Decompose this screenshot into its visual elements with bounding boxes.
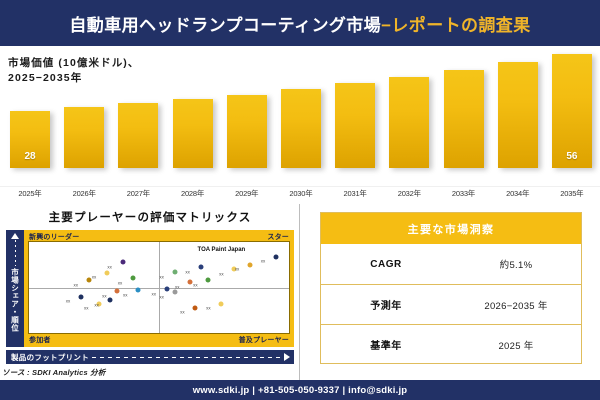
- arrow-right-icon: [284, 353, 290, 361]
- arrow-up-icon: [11, 233, 19, 239]
- matrix-point-label: xx: [94, 302, 99, 307]
- matrix-x-axis-label: 製品のフットプリント: [11, 352, 89, 363]
- matrix-chart: 市場シェア・順位 新興のリーダー スター 参加者 普及プレーヤー xxxxxxx…: [6, 230, 294, 347]
- y-axis-dash-line: [15, 240, 16, 266]
- bar-slot: [389, 46, 429, 168]
- page-title-accent: −レポートの調査果: [381, 16, 531, 35]
- matrix-point: [188, 280, 193, 285]
- page-title: 自動車用ヘッドランプコーティング市場−レポートの調査果: [69, 11, 530, 36]
- chart-plot-area: 2856: [10, 46, 592, 186]
- quadrant-label-pervasive: 普及プレーヤー: [239, 335, 289, 345]
- matrix-point-label: xx: [92, 275, 97, 280]
- matrix-y-axis: 市場シェア・順位: [6, 230, 24, 347]
- matrix-point-label: xx: [74, 282, 79, 287]
- market-value-chart: 市場価値 (10億米ドル)、 2025−2035年 2856 2025年2026…: [0, 46, 600, 204]
- matrix-point: [136, 288, 141, 293]
- bar-2028年: [173, 99, 213, 168]
- insights-row-label: 基準年: [321, 337, 451, 352]
- matrix-point-label: xx: [193, 282, 198, 287]
- matrix-point-label: xx: [180, 310, 185, 315]
- matrix-point-label: xx: [219, 271, 224, 276]
- matrix-point: [274, 254, 279, 259]
- matrix-point: [172, 270, 177, 275]
- matrix-point-label: xx: [66, 299, 71, 304]
- insights-table-body: CAGR約5.1%予測年2026−2035 年基準年2025 年: [321, 244, 581, 364]
- bar-2031年: [335, 83, 375, 168]
- lower-section: 主要プレーヤーの評価マトリックス 市場シェア・順位 新興のリーダー スター 参加…: [0, 204, 600, 380]
- matrix-y-axis-label: 市場シェア・順位: [10, 268, 21, 332]
- matrix-point-label: xx: [159, 274, 164, 279]
- matrix-point-label: xx: [235, 267, 240, 272]
- matrix-point: [105, 270, 110, 275]
- matrix-point-label: xx: [261, 259, 266, 264]
- matrix-point-label: xx: [206, 306, 211, 311]
- insights-heading: 主要な市場洞察: [408, 221, 495, 237]
- x-axis-tick-2032年: 2032年: [389, 188, 429, 199]
- matrix-panel: 主要プレーヤーの評価マトリックス 市場シェア・順位 新興のリーダー スター 参加…: [0, 204, 300, 380]
- quadrant-label-participants: 参加者: [29, 335, 51, 345]
- bar-2034年: [498, 62, 538, 168]
- source-note: ソース : SDKI Analytics 分析: [2, 367, 106, 378]
- matrix-point: [193, 305, 198, 310]
- chart-x-axis: 2025年2026年2027年2028年2029年2030年2031年2032年…: [10, 188, 592, 204]
- bar-slot: [444, 46, 484, 168]
- footer-bar: www.sdki.jp | +81-505-050-9337 | info@sd…: [0, 380, 600, 400]
- matrix-point: [248, 262, 253, 267]
- bar-slot: [281, 46, 321, 168]
- bar-slot: [173, 46, 213, 168]
- bar-slot: 28: [10, 46, 50, 168]
- x-axis-tick-2025年: 2025年: [10, 188, 50, 199]
- bar-slot: 56: [552, 46, 592, 168]
- insights-row-value: 2026−2035 年: [451, 298, 581, 312]
- matrix-point: [115, 289, 120, 294]
- matrix-point-label: xx: [107, 264, 112, 269]
- matrix-point: [206, 278, 211, 283]
- bar-slot: [498, 46, 538, 168]
- matrix-point: [219, 301, 224, 306]
- matrix-point: [172, 290, 177, 295]
- matrix-point: [131, 276, 136, 281]
- matrix-scatter-plot: xxxxxxxxxxxxxxxxxxxxxxxxxxxxxxxxxxxxxxxx…: [28, 241, 290, 334]
- matrix-point-label: xx: [84, 306, 89, 311]
- insights-row-label: CAGR: [321, 259, 451, 270]
- chart-baseline: [0, 186, 600, 187]
- footer-contact: www.sdki.jp | +81-505-050-9337 | info@sd…: [193, 385, 408, 396]
- x-axis-tick-2027年: 2027年: [118, 188, 158, 199]
- x-axis-tick-2033年: 2033年: [444, 188, 484, 199]
- bar-value-label: 56: [552, 151, 592, 162]
- x-axis-tick-2029年: 2029年: [227, 188, 267, 199]
- matrix-point-label: xx: [159, 294, 164, 299]
- x-axis-tick-2031年: 2031年: [335, 188, 375, 199]
- matrix-point: [198, 265, 203, 270]
- bar-2035年: 56: [552, 54, 592, 168]
- bar-series: 2856: [10, 46, 592, 168]
- x-axis-tick-2035年: 2035年: [552, 188, 592, 199]
- matrix-horizontal-divider: [29, 288, 289, 289]
- bar-slot: [64, 46, 104, 168]
- bar-2033年: [444, 70, 484, 168]
- bar-slot: [335, 46, 375, 168]
- insights-panel: 主要な市場洞察 CAGR約5.1%予測年2026−2035 年基準年2025 年: [300, 204, 600, 380]
- bar-2026年: [64, 107, 104, 168]
- bar-value-label: 28: [10, 151, 50, 162]
- x-axis-dash-line: [92, 357, 281, 358]
- matrix-body: 新興のリーダー スター 参加者 普及プレーヤー xxxxxxxxxxxxxxxx…: [24, 230, 294, 347]
- insights-row-label: 予測年: [321, 297, 451, 312]
- bar-slot: [118, 46, 158, 168]
- bar-2027年: [118, 103, 158, 168]
- matrix-title: 主要プレーヤーの評価マトリックス: [0, 209, 300, 225]
- matrix-point: [164, 287, 169, 292]
- insights-row: 予測年2026−2035 年: [321, 284, 581, 324]
- x-axis-tick-2028年: 2028年: [173, 188, 213, 199]
- header-bar: 自動車用ヘッドランプコーティング市場−レポートの調査果: [0, 0, 600, 46]
- page-title-main: 自動車用ヘッドランプコーティング市場: [69, 16, 381, 35]
- matrix-point-label: xx: [185, 270, 190, 275]
- x-axis-tick-2030年: 2030年: [281, 188, 321, 199]
- bar-slot: [227, 46, 267, 168]
- matrix-point: [107, 298, 112, 303]
- matrix-point: [79, 294, 84, 299]
- x-axis-tick-2026年: 2026年: [64, 188, 104, 199]
- insights-row: 基準年2025 年: [321, 324, 581, 364]
- x-axis-tick-2034年: 2034年: [498, 188, 538, 199]
- matrix-point-label: xx: [123, 292, 128, 297]
- insights-table: 主要な市場洞察 CAGR約5.1%予測年2026−2035 年基準年2025 年: [320, 212, 582, 364]
- insights-row-value: 2025 年: [451, 338, 581, 352]
- insights-table-header: 主要な市場洞察: [321, 213, 581, 244]
- bar-2029年: [227, 95, 267, 168]
- report-infographic: 自動車用ヘッドランプコーティング市場−レポートの調査果 市場価値 (10億米ドル…: [0, 0, 600, 400]
- matrix-point: [120, 260, 125, 265]
- matrix-point: [86, 278, 91, 283]
- matrix-point-label: xx: [175, 284, 180, 289]
- insights-row-value: 約5.1%: [451, 257, 581, 271]
- bar-2025年: 28: [10, 111, 50, 168]
- matrix-point-label: xx: [118, 280, 123, 285]
- insights-row: CAGR約5.1%: [321, 244, 581, 284]
- bar-2030年: [281, 89, 321, 168]
- matrix-point-label: xx: [152, 291, 157, 296]
- matrix-point-label: xx: [102, 293, 107, 298]
- matrix-x-axis: 製品のフットプリント: [6, 350, 294, 364]
- bar-2032年: [389, 77, 429, 169]
- matrix-highlight-label: TOA Paint Japan: [198, 247, 246, 253]
